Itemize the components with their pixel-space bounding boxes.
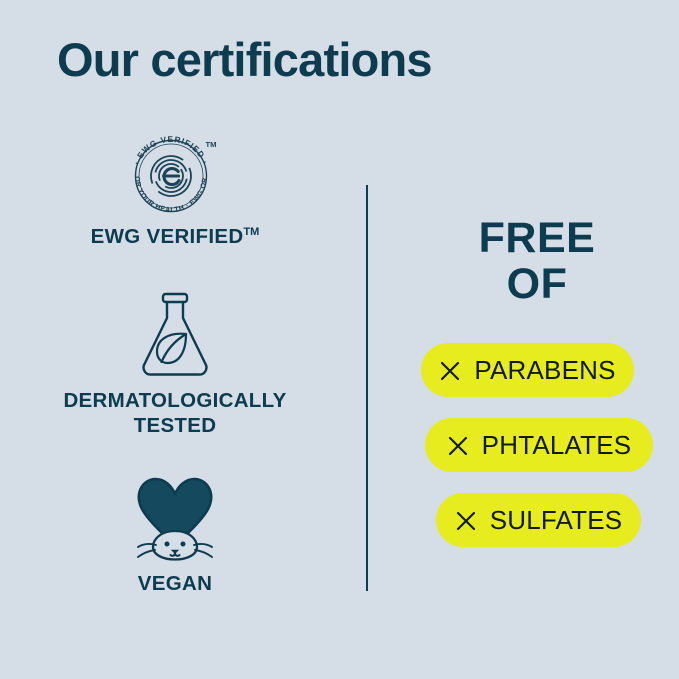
certifications-list: · EWG VERIFIED · FOR YOUR HEALTH · EWG.O… (10, 130, 340, 597)
free-of-pill-phtalates: PHTALATES (425, 418, 653, 472)
column-divider (366, 185, 368, 591)
free-of-heading: FREE OF (395, 215, 679, 307)
free-of-pill-label: SULFATES (490, 505, 623, 536)
certification-label-ewg-text: EWG VERIFIED (91, 225, 244, 248)
free-of-section: FREE OF PARABENS (395, 215, 679, 547)
x-mark-icon (447, 435, 469, 457)
certification-item-ewg: · EWG VERIFIED · FOR YOUR HEALTH · EWG.O… (10, 130, 340, 250)
free-of-pill-list: PARABENS PHTALATES (395, 343, 679, 547)
certification-item-dermatologically-tested: DERMATOLOGICALLY TESTED (10, 290, 340, 439)
ewg-verified-seal-icon: · EWG VERIFIED · FOR YOUR HEALTH · EWG.O… (123, 130, 227, 214)
page-title: Our certifications (57, 33, 432, 87)
certification-label-dermatologically-tested: DERMATOLOGICALLY TESTED (10, 388, 340, 439)
x-mark-icon (439, 360, 461, 382)
certification-label-derm-line2: TESTED (134, 414, 217, 437)
certification-label-derm-line1: DERMATOLOGICALLY (63, 389, 286, 412)
free-of-heading-line2: OF (395, 261, 679, 307)
svg-text:TM: TM (206, 140, 217, 149)
free-of-pill-label: PHTALATES (482, 430, 632, 461)
certifications-infographic: Our certifications · EWG VERIFIED · FOR … (0, 0, 679, 679)
flask-with-leaf-icon (136, 290, 214, 378)
x-mark-icon (455, 510, 477, 532)
certification-item-vegan: VEGAN (10, 469, 340, 597)
certification-label-vegan: VEGAN (10, 571, 340, 597)
free-of-pill-sulfates: SULFATES (436, 493, 641, 547)
svg-text:· EWG VERIFIED ·: · EWG VERIFIED · (131, 134, 211, 166)
trademark-mark: TM (243, 226, 259, 238)
free-of-pill-label: PARABENS (474, 355, 615, 386)
bunny-heart-ears-icon (123, 469, 227, 561)
certification-label-ewg: EWG VERIFIEDTM (10, 224, 340, 250)
free-of-pill-parabens: PARABENS (421, 343, 634, 397)
free-of-heading-line1: FREE (479, 214, 596, 262)
